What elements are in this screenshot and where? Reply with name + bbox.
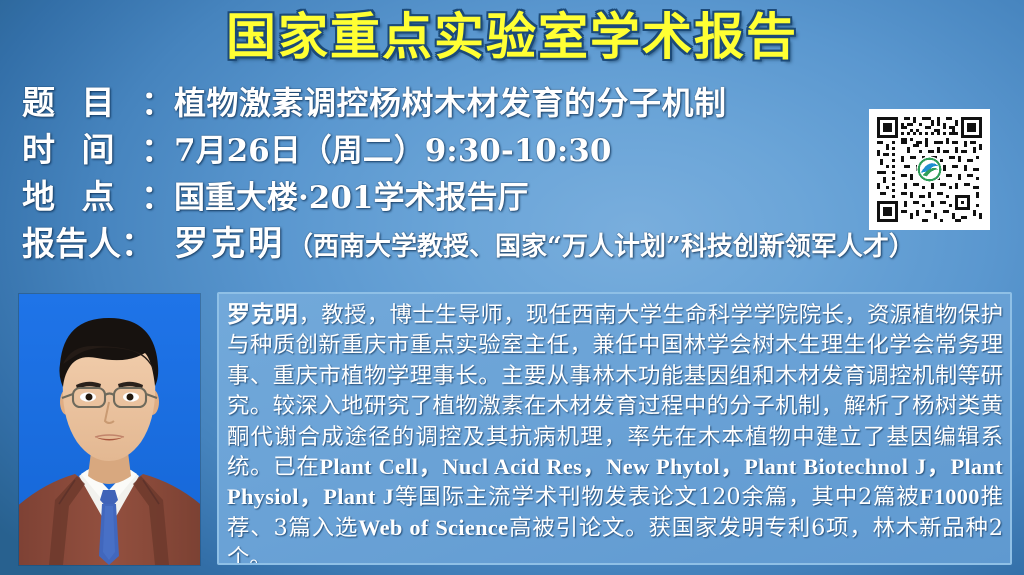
info-label-topic-char2: 目 bbox=[82, 84, 116, 122]
info-row-speaker: 报告人： 罗克明 （西南大学教授、国家“万人计划”科技创新领军人才） bbox=[22, 225, 862, 272]
info-label-time: 时 间 ： bbox=[22, 131, 174, 169]
poster-title-wrapper: 国家重点实验室学术报告 bbox=[0, 6, 1024, 68]
info-label-topic: 题 目 ： bbox=[22, 84, 174, 122]
info-row-topic: 题 目 ： 植物激素调控杨树木材发育的分子机制 bbox=[22, 84, 862, 131]
speaker-bio-text: 罗克明，教授，博士生导师，现任西南大学生命科学学院院长，资源植物保护与种质创新重… bbox=[227, 300, 1003, 565]
bio-segment-name-0: 罗克明 bbox=[227, 302, 299, 328]
info-row-place: 地 点 ： 国重大楼·201学术报告厅 bbox=[22, 178, 862, 225]
info-label-place-char2: 点 bbox=[82, 178, 116, 216]
info-label-time-char1: 时 bbox=[22, 131, 56, 169]
info-label-topic-char1: 题 bbox=[22, 84, 56, 122]
speaker-photo-icon bbox=[19, 294, 200, 565]
poster-title: 国家重点实验室学术报告 bbox=[226, 6, 798, 68]
speaker-bio-box: 罗克明，教授，博士生导师，现任西南大学生命科学学院院长，资源植物保护与种质创新重… bbox=[217, 292, 1012, 565]
info-row-time: 时 间 ： 7月26日（周二）9:30-10:30 bbox=[22, 131, 862, 178]
info-value-topic: 植物激素调控杨树木材发育的分子机制 bbox=[174, 84, 727, 122]
bio-segment-en-6: Web of Science bbox=[358, 515, 508, 540]
info-label-time-colon: ： bbox=[141, 131, 174, 169]
info-label-topic-colon: ： bbox=[141, 84, 174, 122]
info-block: 题 目 ： 植物激素调控杨树木材发育的分子机制 时 间 ： 7月26日（周二）9… bbox=[22, 84, 862, 272]
info-label-place-colon: ： bbox=[141, 178, 174, 216]
info-value-place: 国重大楼·201学术报告厅 bbox=[174, 179, 529, 217]
bio-segment-en-4: F1000 bbox=[920, 484, 980, 509]
qr-code-icon bbox=[874, 114, 985, 225]
info-value-time: 7月26日（周二）9:30-10:30 bbox=[174, 132, 611, 170]
info-label-speaker: 报告人： bbox=[22, 225, 174, 263]
info-value-speaker-affiliation: （西南大学教授、国家“万人计划”科技创新领军人才） bbox=[287, 228, 915, 266]
speaker-photo bbox=[19, 294, 200, 565]
info-value-speaker-name: 罗克明 bbox=[174, 225, 287, 263]
info-label-time-char2: 间 bbox=[82, 131, 116, 169]
seminar-poster: 国家重点实验室学术报告 题 目 ： 植物激素调控杨树木材发育的分子机制 时 间 … bbox=[0, 0, 1024, 575]
info-label-place: 地 点 ： bbox=[22, 178, 174, 216]
qr-code[interactable] bbox=[869, 109, 990, 230]
info-label-place-char1: 地 bbox=[22, 178, 56, 216]
bio-segment-cn-3: 等国际主流学术刊物发表论文120余篇，其中2篇被 bbox=[394, 484, 920, 510]
